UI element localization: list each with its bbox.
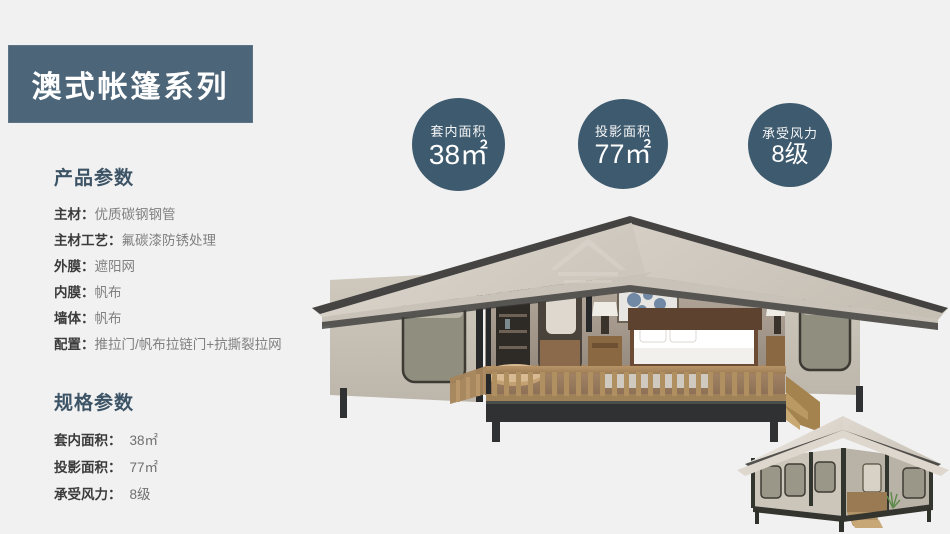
stat-value: 8级 [771,143,808,167]
param-value: 帆布 [95,285,122,300]
stat-label: 套内面积 [430,121,486,140]
spec-value: 8级 [130,487,151,502]
param-label: 内膜： [54,285,95,300]
spec-label: 投影面积： [54,460,122,475]
spec-label: 套内面积： [54,433,122,448]
stat-label: 承受风力 [762,123,818,142]
param-value: 优质碳钢钢管 [95,207,176,222]
stat-circle-projected-area: 投影面积 77㎡ [578,99,668,189]
param-label: 墙体： [54,311,95,326]
spec-row: 承受风力：8级 [54,481,354,508]
spec-value: 38㎡ [130,433,159,448]
stat-value: 77㎡ [594,141,651,168]
param-value: 帆布 [95,311,122,326]
param-label: 主材工艺： [54,233,122,248]
spec-value: 77㎡ [130,460,159,475]
stat-value: 38㎡ [429,141,488,169]
param-label: 外膜： [54,259,95,274]
param-value: 遮阳网 [95,259,136,274]
param-value: 推拉门/帆布拉链门+抗撕裂拉网 [95,337,282,352]
stat-label: 投影面积 [595,121,651,140]
spec-label: 承受风力： [54,487,122,502]
title-banner: 澳式帐篷系列 [8,45,253,123]
slide-canvas: 澳式帐篷系列 产品参数 主材：优质碳钢钢管 主材工艺：氟碳漆防锈处理 外膜：遮阳… [0,0,950,534]
param-label: 主材： [54,207,95,222]
banner-title: 澳式帐篷系列 [32,62,230,106]
tent-inset-illustration [735,408,950,534]
stat-circle-interior-area: 套内面积 38㎡ [412,98,505,191]
stat-circle-wind-resistance: 承受风力 8级 [748,103,832,187]
inset-door [863,464,881,492]
param-value: 氟碳漆防锈处理 [122,233,217,248]
param-label: 配置： [54,337,95,352]
